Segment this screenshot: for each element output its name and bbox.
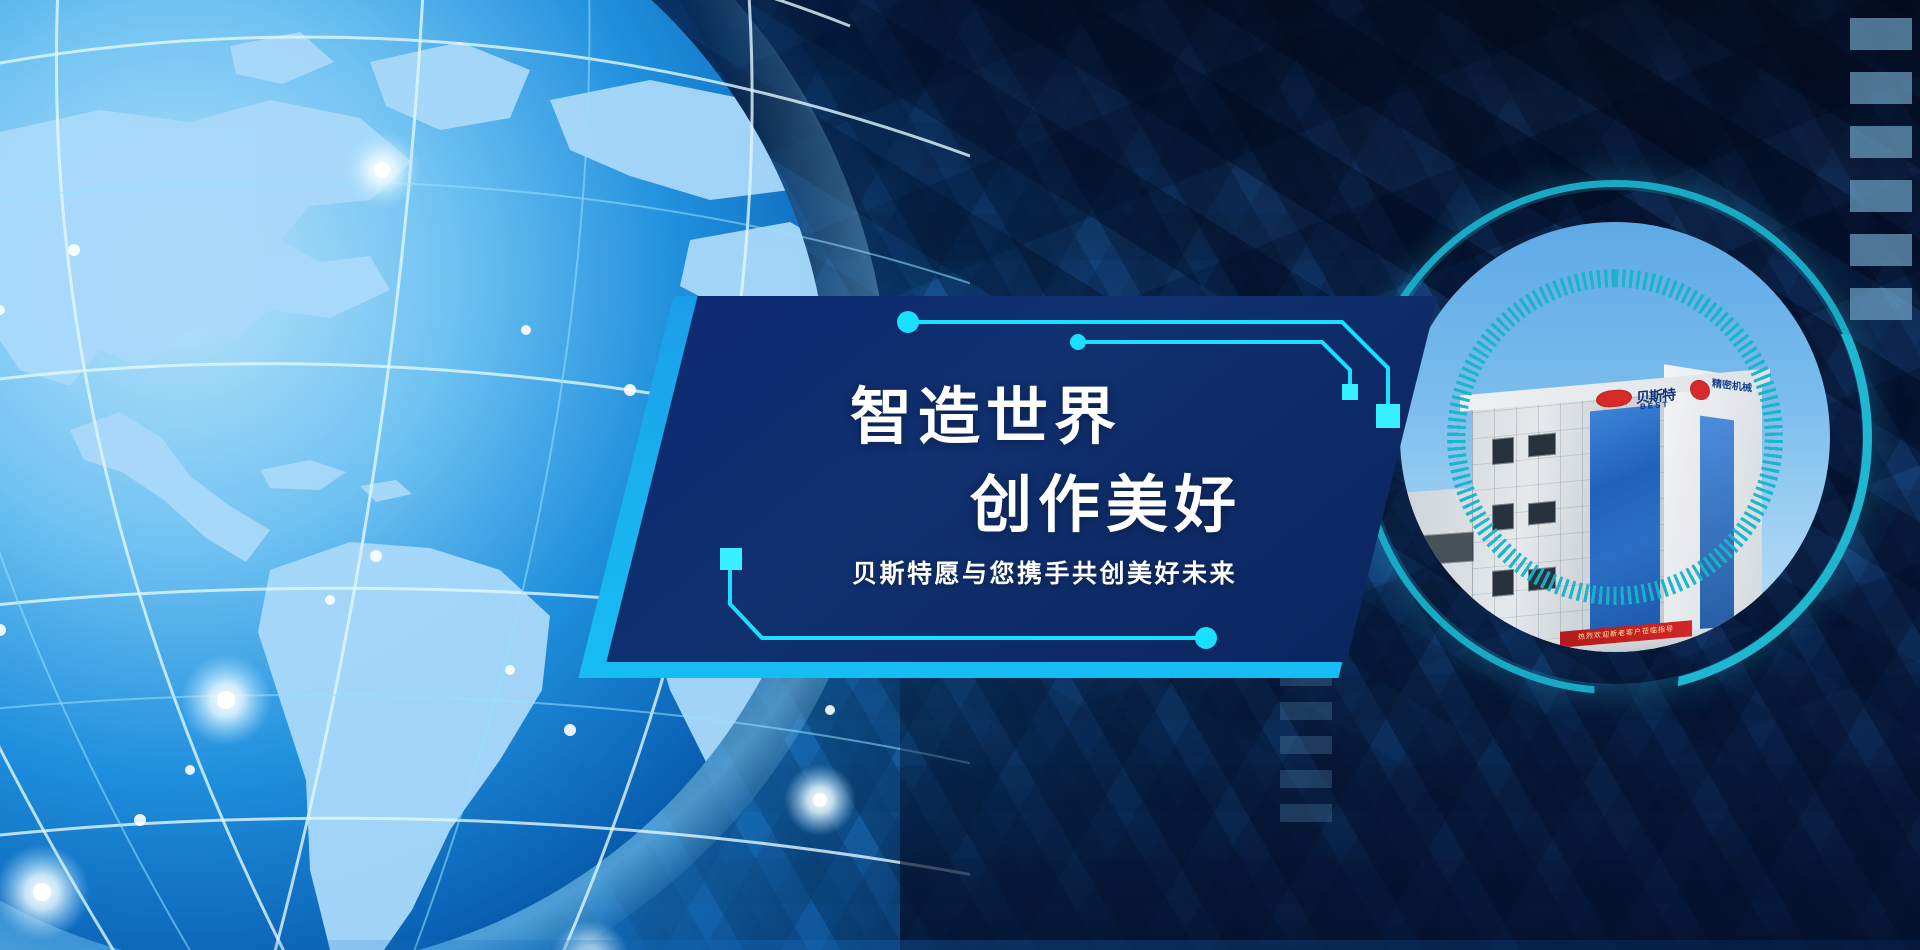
mid-bar <box>1280 770 1332 788</box>
edge-bar <box>1850 18 1912 50</box>
edge-bar-stack <box>1828 0 1920 290</box>
banner-subtitle: 贝斯特愿与您携手共创美好未来 <box>852 554 1237 590</box>
edge-bar <box>1850 72 1912 104</box>
panel-text-block: 智造世界 创作美好 贝斯特愿与您携手共创美好未来 <box>820 296 1380 662</box>
mid-bar <box>1280 804 1332 822</box>
edge-bar <box>1850 180 1912 212</box>
headline-line-1: 智造世界 <box>850 366 1122 456</box>
headline-line-2: 创作美好 <box>970 454 1242 544</box>
edge-bar <box>1850 288 1912 320</box>
bottom-light-strip <box>0 940 1920 950</box>
edge-bar <box>1850 234 1912 266</box>
edge-bar <box>1850 126 1912 158</box>
mid-bar-stack <box>1280 668 1340 838</box>
hero-banner: 贝斯特 BEST 精密机械 热烈欢迎新老客户莅临指导 智造世界 创作美好 贝斯特… <box>0 0 1920 950</box>
mid-bar <box>1280 702 1332 720</box>
mid-bar <box>1280 736 1332 754</box>
